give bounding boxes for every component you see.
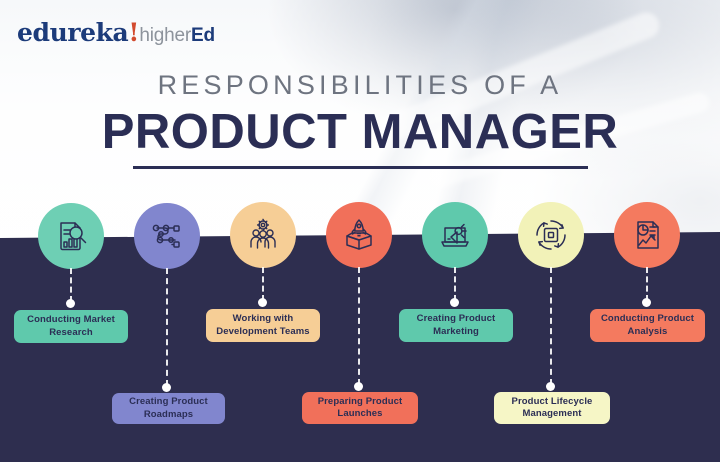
node-circle-3[interactable] <box>230 202 296 268</box>
title-block: RESPONSIBILITIES OF A PRODUCT MANAGER <box>0 72 720 169</box>
connector-dot-3 <box>258 298 267 307</box>
label-pill-7[interactable]: Conducting Product Analysis <box>590 309 705 342</box>
label-pill-1[interactable]: Conducting Market Research <box>14 310 128 343</box>
title-underline <box>133 166 588 169</box>
brand-logo[interactable]: edureka!higherEd <box>17 20 215 46</box>
page-title: PRODUCT MANAGER <box>0 108 720 157</box>
brand-exclamation: ! <box>128 18 139 47</box>
report-chart-icon <box>629 217 665 253</box>
lifecycle-arrows-box-icon <box>533 217 569 253</box>
connector-dot-1 <box>66 299 75 308</box>
brand-edureka: edureka <box>17 18 128 47</box>
connector-dot-5 <box>450 298 459 307</box>
label-pill-2[interactable]: Creating Product Roadmaps <box>112 393 225 424</box>
brand-ed: Ed <box>191 25 215 46</box>
rocket-box-icon <box>341 217 377 253</box>
connector-dot-6 <box>546 382 555 391</box>
connector-line-3 <box>262 267 264 301</box>
title-kicker: RESPONSIBILITIES OF A <box>0 72 720 99</box>
connector-line-7 <box>646 267 648 301</box>
connector-dot-2 <box>162 383 171 392</box>
label-pill-6[interactable]: Product Lifecycle Management <box>494 392 610 424</box>
label-pill-4[interactable]: Preparing Product Launches <box>302 392 418 424</box>
brand-higher: higher <box>139 25 191 46</box>
connector-line-2 <box>166 268 168 386</box>
node-circle-7[interactable] <box>614 202 680 268</box>
connector-line-4 <box>358 267 360 385</box>
document-magnifier-icon <box>53 218 89 254</box>
node-circle-5[interactable] <box>422 202 488 268</box>
connector-dot-7 <box>642 298 651 307</box>
connector-line-5 <box>454 267 456 301</box>
laptop-megaphone-icon <box>437 217 473 253</box>
node-circle-2[interactable] <box>134 203 200 269</box>
node-circle-1[interactable] <box>38 203 104 269</box>
connector-dot-4 <box>354 382 363 391</box>
connector-line-6 <box>550 267 552 385</box>
label-pill-5[interactable]: Creating Product Marketing <box>399 309 513 342</box>
roadmap-nodes-icon <box>149 218 185 254</box>
node-circle-6[interactable] <box>518 202 584 268</box>
node-circle-4[interactable] <box>326 202 392 268</box>
infographic-canvas: edureka!higherEd RESPONSIBILITIES OF A P… <box>0 0 720 462</box>
label-pill-3[interactable]: Working with Development Teams <box>206 309 320 342</box>
team-gear-icon <box>245 217 281 253</box>
connector-line-1 <box>70 268 72 302</box>
